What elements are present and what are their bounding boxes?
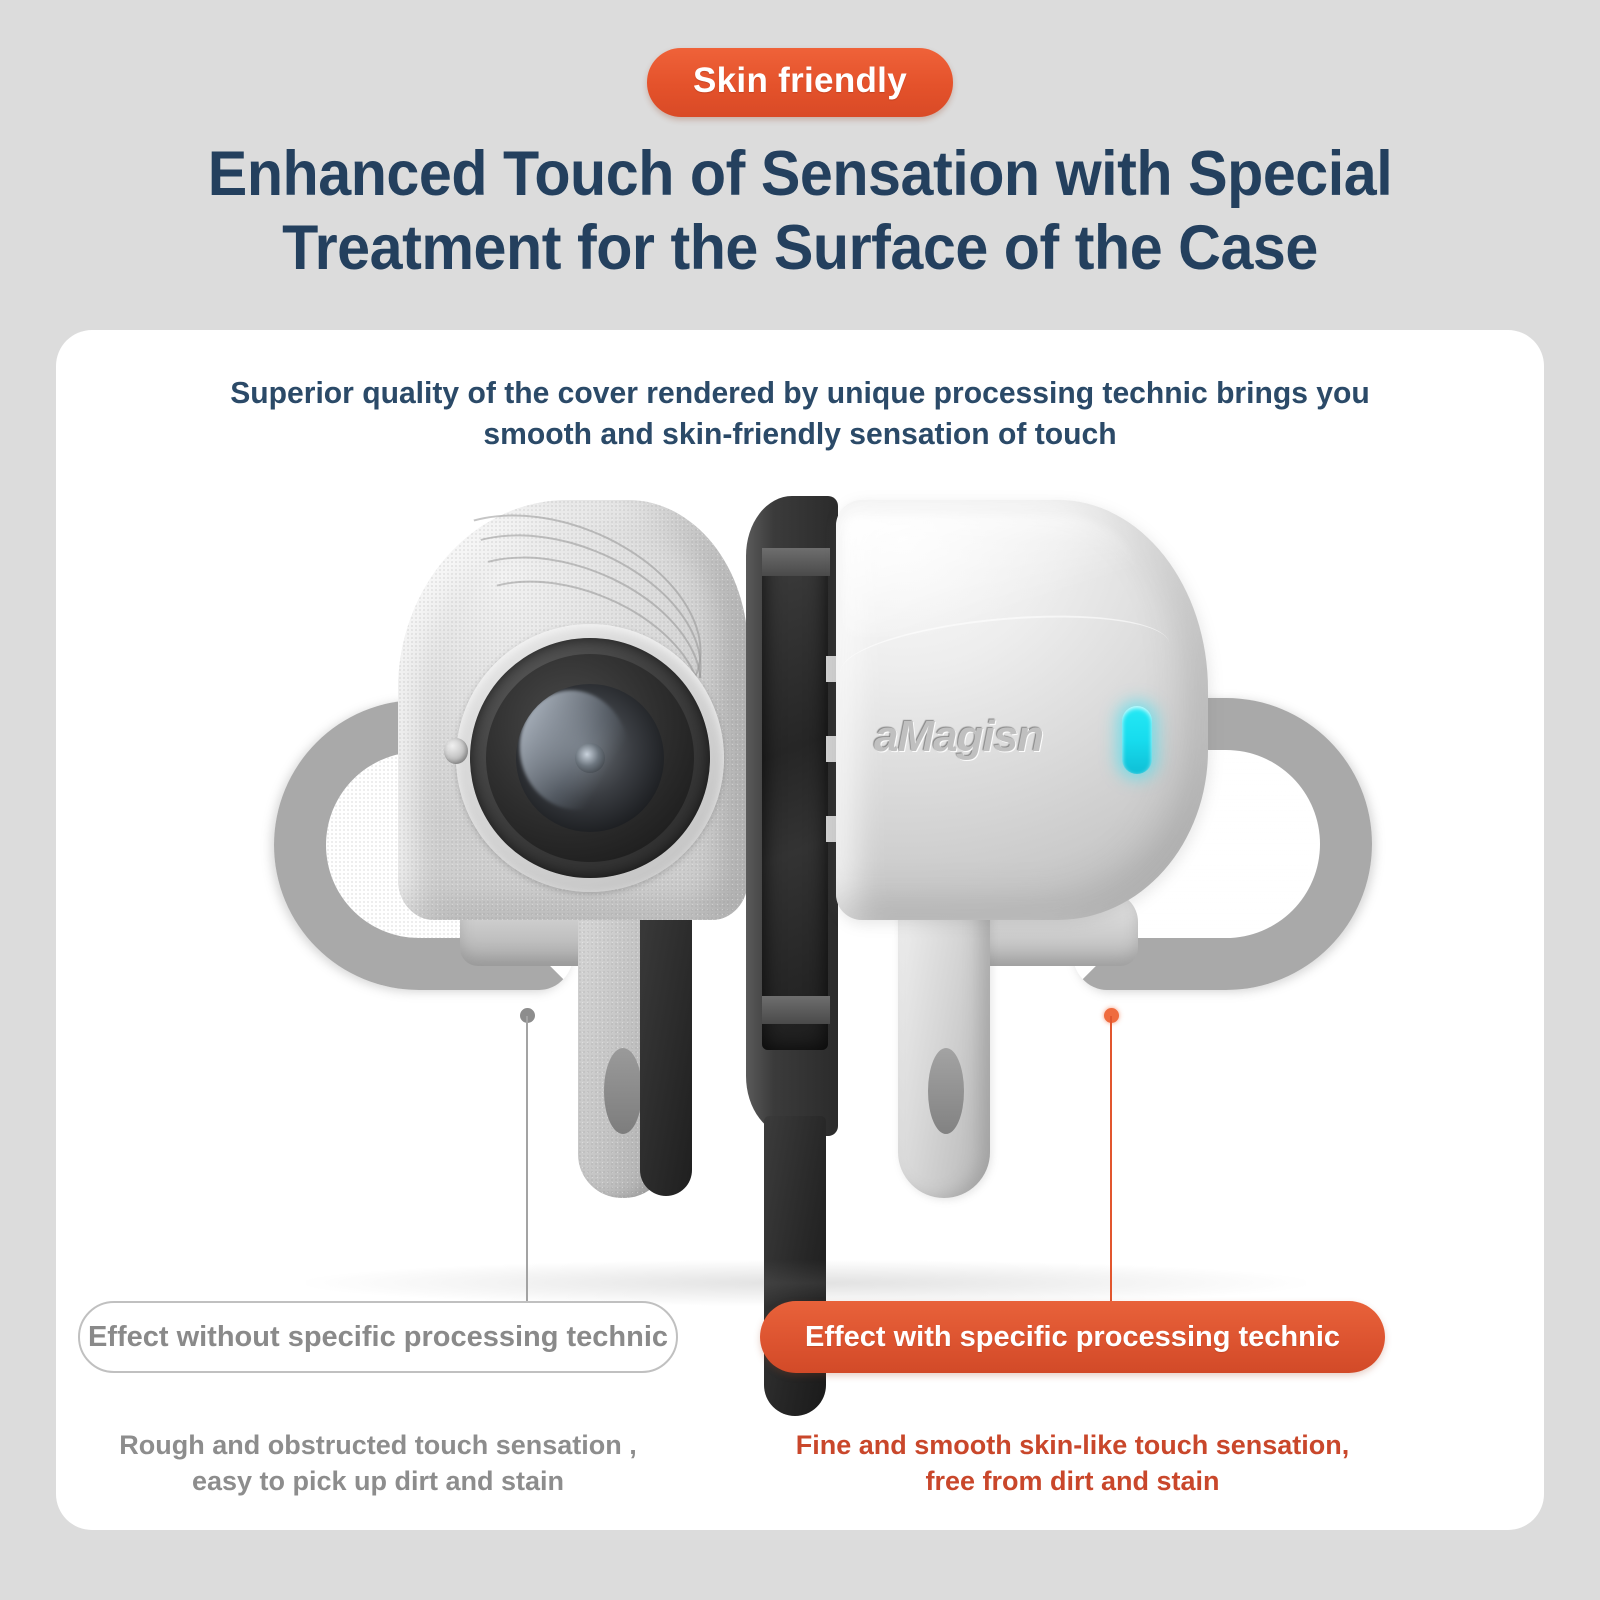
label-effect-with-technic[interactable]: Effect with specific processing technic (760, 1301, 1385, 1373)
page-title-line-2: Treatment for the Surface of the Case (123, 212, 1477, 286)
caption-untreated: Rough and obstructed touch sensation , e… (78, 1428, 678, 1499)
callout-line-right (1110, 1016, 1112, 1301)
caption-treated-line-1: Fine and smooth skin-like touch sensatio… (760, 1428, 1385, 1464)
cutaway-band-bottom (762, 996, 830, 1024)
mount-screw-hole-right (928, 1048, 964, 1134)
caption-untreated-line-1: Rough and obstructed touch sensation , (78, 1428, 678, 1464)
callout-line-left (526, 1016, 528, 1301)
product-illustration: aMagisn (56, 470, 1544, 1310)
skin-friendly-badge: Skin friendly (647, 48, 953, 117)
lens-glass (516, 684, 664, 832)
case-shell-treated: aMagisn (836, 500, 1208, 920)
side-button-nub (444, 738, 468, 764)
cutaway-band-top (762, 548, 830, 576)
lens-ring-outer (470, 638, 710, 878)
led-indicator-icon (1122, 706, 1152, 774)
caption-treated: Fine and smooth skin-like touch sensatio… (760, 1428, 1385, 1499)
caption-untreated-line-2: easy to pick up dirt and stain (78, 1464, 678, 1500)
mount-screw-hole-left (604, 1048, 642, 1134)
cutaway-interior (762, 550, 828, 1050)
lens-center-pupil (575, 743, 605, 773)
case-cutaway-cross-section (746, 496, 838, 1136)
card-subtitle: Superior quality of the cover rendered b… (195, 372, 1406, 454)
ground-shadow (306, 1260, 1306, 1306)
badge-container: Skin friendly (0, 48, 1600, 117)
case-half-treated: aMagisn (836, 500, 1396, 1120)
label-effect-without-technic[interactable]: Effect without specific processing techn… (78, 1301, 678, 1373)
mount-leg-left-cutaway (640, 904, 692, 1196)
card-subtitle-line-1: Superior quality of the cover rendered b… (195, 372, 1406, 413)
mount-leg-right (898, 898, 990, 1198)
brand-logo-text: aMagisn (874, 712, 1043, 762)
caption-treated-line-2: free from dirt and stain (760, 1464, 1385, 1500)
page-title-line-1: Enhanced Touch of Sensation with Special (123, 138, 1477, 212)
camera-lens-assembly (456, 624, 724, 892)
page-title: Enhanced Touch of Sensation with Special… (123, 138, 1477, 285)
card-subtitle-line-2: smooth and skin-friendly sensation of to… (195, 413, 1406, 454)
lens-ring-inner (486, 654, 694, 862)
case-half-untreated (278, 500, 748, 1100)
